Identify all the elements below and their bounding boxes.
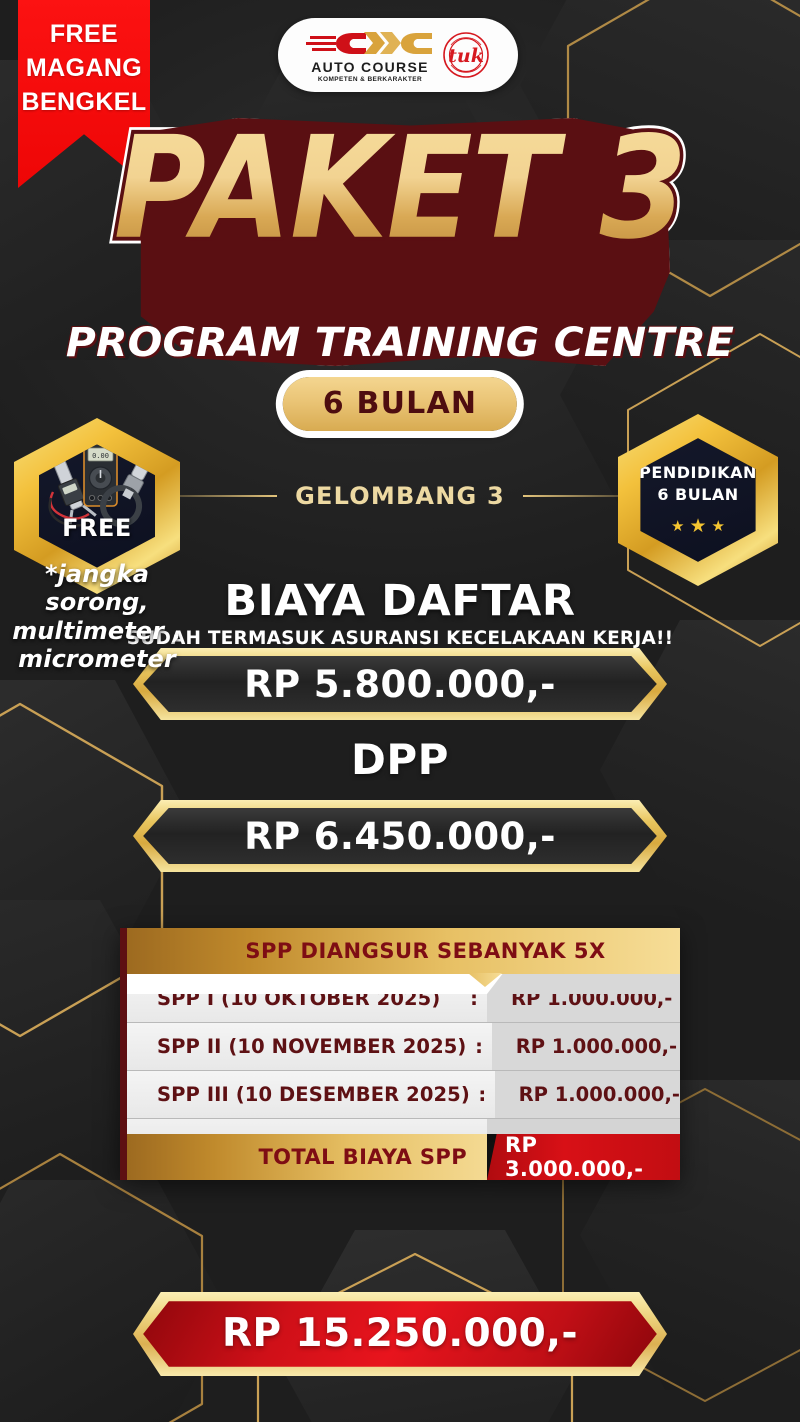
- spp-row-label: SPP II (10 NOVEMBER 2025): [127, 1035, 466, 1058]
- table-row: SPP III (10 DESEMBER 2025) : RP 1.000.00…: [127, 1070, 680, 1118]
- price-banner-inner: RP 6.450.000,-: [143, 808, 657, 864]
- brand-name: AUTO COURSE: [311, 60, 429, 74]
- brand-logo-container: AUTO COURSE KOMPETEN & BERKARAKTER tuk: [278, 18, 518, 92]
- tuk-certification-badge-icon: tuk: [442, 31, 490, 79]
- registration-price-banner: RP 5.800.000,-: [133, 648, 667, 720]
- registration-price: RP 5.800.000,-: [244, 663, 556, 706]
- spp-row-label: SPP III (10 DESEMBER 2025): [127, 1083, 470, 1106]
- grand-total-inner: RP 15.250.000,-: [143, 1301, 657, 1367]
- spp-table-notch: [127, 974, 680, 994]
- spp-row-separator: :: [466, 1035, 491, 1058]
- star-icon: ★: [689, 515, 706, 538]
- ribbon-line-2: MAGANG: [26, 52, 142, 84]
- background-gold-line: [0, 1150, 210, 1422]
- wave-label: GELOMBANG 3: [295, 482, 505, 510]
- auto-course-logo-icon: [306, 27, 434, 59]
- title-subtitle: PROGRAM TRAINING CENTRE: [0, 320, 800, 366]
- star-icon: ★: [671, 517, 684, 535]
- table-filler-row: [127, 1118, 680, 1134]
- spp-installment-table: SPP DIANGSUR SEBANYAK 5X SPP I (10 OKTOB…: [120, 928, 680, 1180]
- grand-total-banner: RP 15.250.000,-: [133, 1292, 667, 1376]
- ribbon-line-1: FREE: [50, 18, 118, 50]
- spp-header-label: SPP DIANGSUR SEBANYAK 5X: [201, 939, 605, 963]
- auto-course-logo: AUTO COURSE KOMPETEN & BERKARAKTER: [306, 27, 434, 84]
- dpp-price: RP 6.450.000,-: [244, 815, 556, 858]
- spp-row-amount: RP 1.000.000,-: [495, 1071, 680, 1118]
- svg-text:0.00: 0.00: [92, 452, 109, 460]
- spp-table-header: SPP DIANGSUR SEBANYAK 5X: [127, 928, 680, 974]
- spp-total-amount-cell: RP 3.000.000,-: [487, 1134, 680, 1180]
- spp-total-label: TOTAL BIAYA SPP: [258, 1145, 467, 1169]
- duration-label: 6 BULAN: [323, 386, 477, 421]
- education-label-line2: 6 BULAN: [657, 485, 738, 505]
- grand-total-amount: RP 15.250.000,-: [222, 1311, 578, 1356]
- education-duration-badge: PENDIDIKAN 6 BULAN ★ ★ ★: [618, 414, 778, 586]
- page-title: PAKET 3: [0, 118, 800, 259]
- spp-total-row: TOTAL BIAYA SPP RP 3.000.000,-: [127, 1134, 680, 1180]
- table-filler-right: [487, 1119, 680, 1134]
- free-tools-note: *jangka sorong, multimeter , micrometer: [2, 560, 192, 673]
- price-banner-inner: RP 5.800.000,-: [143, 656, 657, 712]
- dpp-label: DPP: [0, 735, 800, 784]
- main-title-block: PAKET 3 PAKET 3 PAKET 3 PROGRAM TRAINING…: [0, 118, 800, 366]
- star-icon: ★: [712, 517, 725, 535]
- brand-tagline: KOMPETEN & BERKARAKTER: [318, 77, 422, 84]
- education-label-line1: PENDIDIKAN: [639, 463, 757, 483]
- table-row: SPP II (10 NOVEMBER 2025) : RP 1.000.000…: [127, 1022, 680, 1070]
- svg-text:tuk: tuk: [448, 45, 484, 67]
- spp-table-body: SPP I (10 OKTOBER 2025) : RP 1.000.000,-…: [127, 974, 680, 1134]
- free-label: FREE: [39, 514, 155, 542]
- spp-total-amount: RP 3.000.000,-: [505, 1133, 680, 1181]
- spp-row-separator: :: [470, 1083, 495, 1106]
- star-rating: ★ ★ ★: [671, 515, 725, 538]
- duration-pill: 6 BULAN: [283, 377, 517, 431]
- spp-total-label-cell: TOTAL BIAYA SPP: [127, 1134, 487, 1180]
- spp-row-amount: RP 1.000.000,-: [492, 1023, 680, 1070]
- dpp-price-banner: RP 6.450.000,-: [133, 800, 667, 872]
